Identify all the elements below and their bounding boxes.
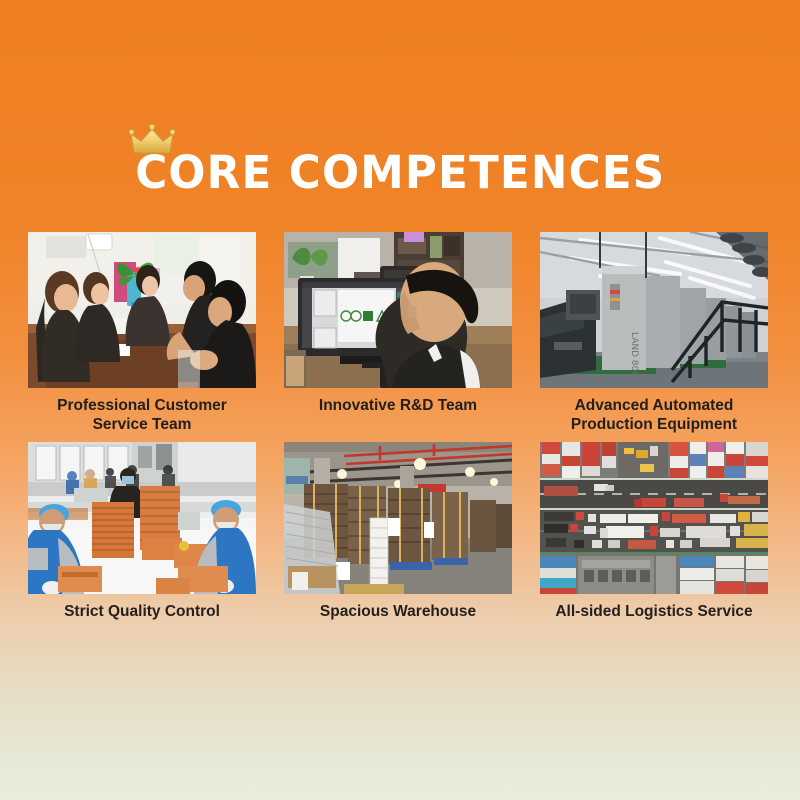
caption-strict-quality-control: Strict Quality Control [28,603,256,645]
competence-card-all-sided-logistics-service[interactable]: All-sided Logistics Service [540,442,768,645]
competences-grid: Professional Customer Service Team [28,232,772,645]
caption-all-sided-logistics-service: All-sided Logistics Service [540,603,768,645]
page-title: CORE COMPETENCES [135,150,665,195]
caption-line-1: All-sided Logistics Service [540,603,768,622]
caption-line-1: Advanced Automated [540,397,768,416]
caption-line-1: Strict Quality Control [28,603,256,622]
business-meeting-photo [28,232,256,388]
designer-at-computer-photo [284,232,512,388]
competence-card-strict-quality-control[interactable]: Strict Quality Control [28,442,256,645]
caption-spacious-warehouse: Spacious Warehouse [284,603,512,645]
caption-line-1: Professional Customer [28,397,256,416]
caption-line-2: Service Team [28,416,256,435]
title-inner: CORE COMPETENCES [127,150,674,195]
aerial-container-yard-photo [540,442,768,594]
competence-card-innovative-rd-team[interactable]: Innovative R&D Team [284,232,512,439]
svg-text:LAND 800: LAND 800 [629,332,639,377]
competence-card-spacious-warehouse[interactable]: Spacious Warehouse [284,442,512,645]
core-competences-banner: CORE COMPETENCES [0,0,800,800]
printing-press-machines-photo: LAND 800 [540,232,768,388]
caption-line-1: Spacious Warehouse [284,603,512,622]
title-block: CORE COMPETENCES [0,150,800,195]
caption-professional-customer-service-team: Professional Customer Service Team [28,397,256,439]
competence-card-advanced-automated-production-equipment[interactable]: LAND 800 [540,232,768,439]
caption-line-1: Innovative R&D Team [284,397,512,416]
quality-inspection-workers-photo [28,442,256,594]
caption-line-2: Production Equipment [540,416,768,435]
competence-card-professional-customer-service-team[interactable]: Professional Customer Service Team [28,232,256,439]
caption-advanced-automated-production-equipment: Advanced Automated Production Equipment [540,397,768,439]
warehouse-stacked-cartons-photo [284,442,512,594]
caption-innovative-rd-team: Innovative R&D Team [284,397,512,439]
